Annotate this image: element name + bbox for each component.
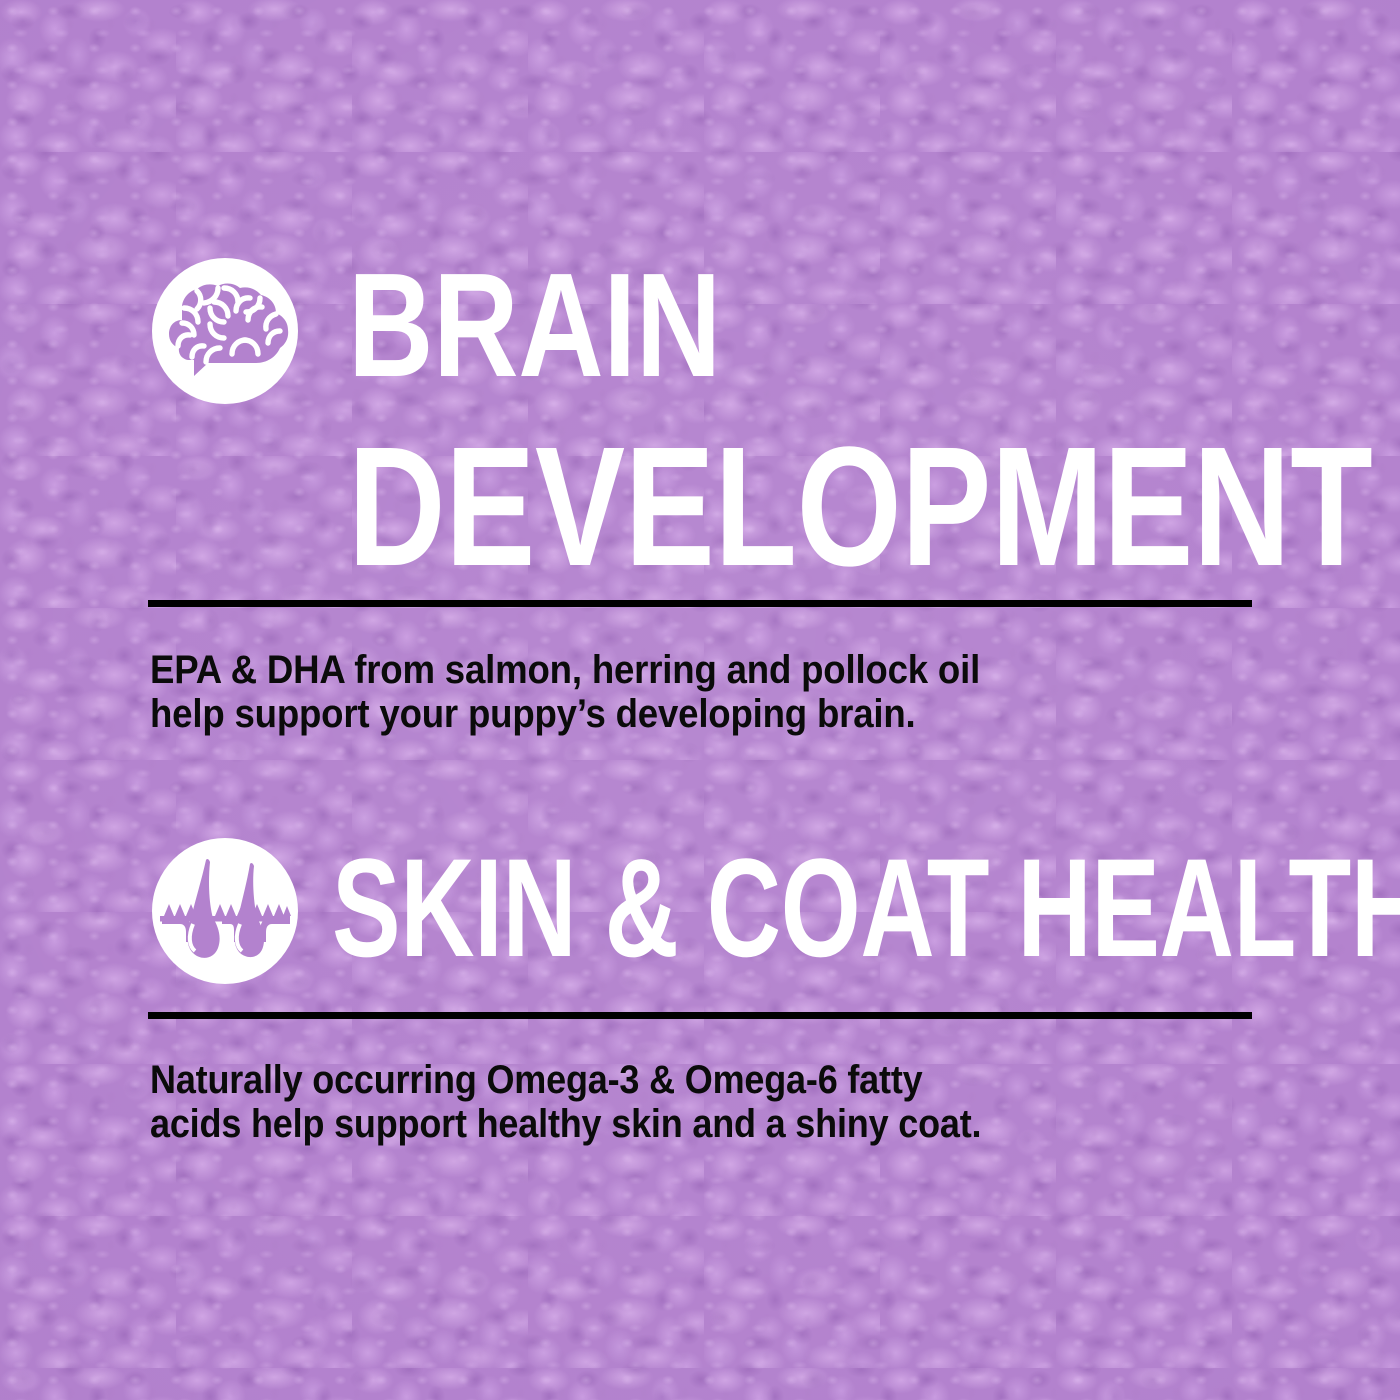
brain-icon (152, 258, 298, 404)
benefits-panel: BRAIN DEVELOPMENT EPA & DHA from salmon,… (0, 0, 1400, 1400)
body-copy-skin-coat: Naturally occurring Omega-3 & Omega-6 fa… (150, 1058, 981, 1146)
headline-skin-coat-health: SKIN & COAT HEALTH (332, 838, 1400, 978)
divider-rule-skin-coat (148, 1012, 1252, 1019)
body-copy-brain-line1: EPA & DHA from salmon, herring and pollo… (150, 648, 980, 692)
hair-follicle-icon (152, 838, 298, 984)
headline-brain: BRAIN (348, 252, 721, 400)
body-copy-skin-coat-line1: Naturally occurring Omega-3 & Omega-6 fa… (150, 1058, 981, 1102)
headline-development: DEVELOPMENT (348, 422, 1372, 592)
body-copy-skin-coat-line2: acids help support healthy skin and a sh… (150, 1102, 981, 1146)
body-copy-brain: EPA & DHA from salmon, herring and pollo… (150, 648, 980, 736)
divider-rule-brain (148, 600, 1252, 607)
body-copy-brain-line2: help support your puppy’s developing bra… (150, 692, 980, 736)
